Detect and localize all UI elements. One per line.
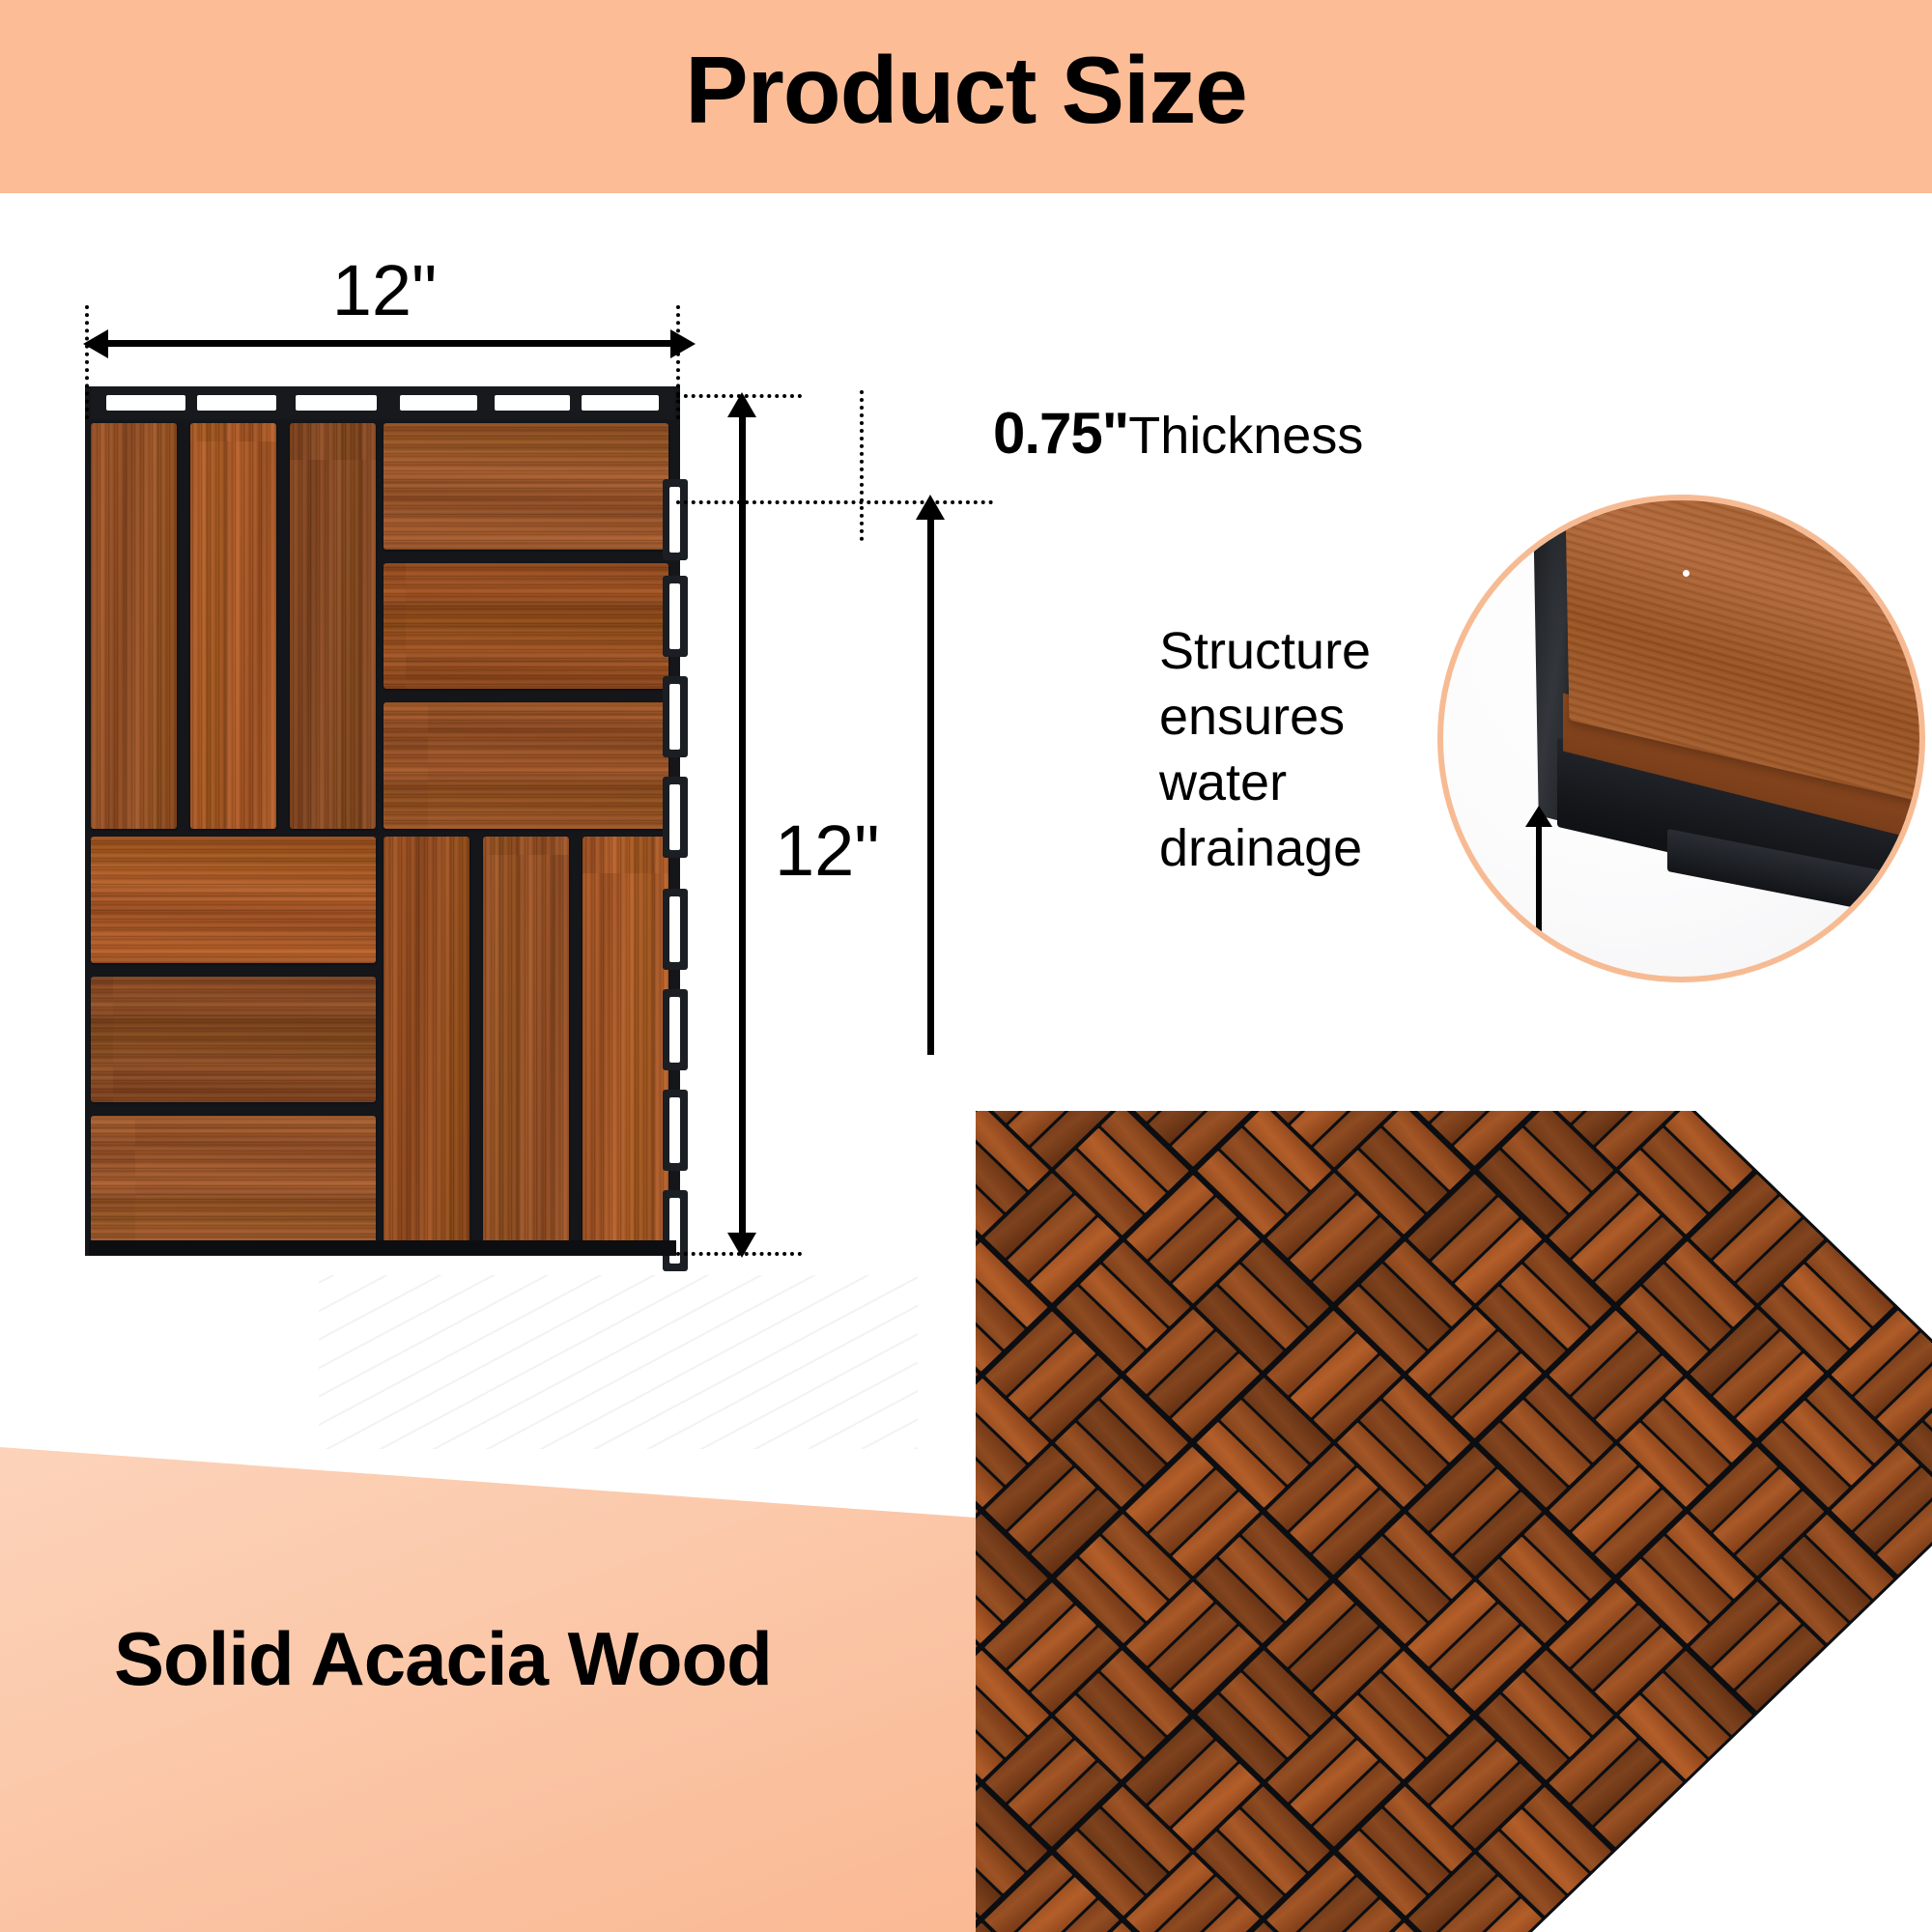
installed-tile-array-photo	[976, 1111, 1932, 1932]
tile-plastic-frame	[85, 386, 680, 1256]
wood-slat	[384, 702, 668, 829]
connector-tab-hole	[669, 684, 680, 750]
wood-slat	[290, 423, 376, 829]
drainage-note-line-1: Structure	[1159, 618, 1371, 684]
wood-slat	[91, 1116, 376, 1242]
wood-grain-texture	[91, 977, 376, 1103]
background-texture-streaks	[319, 1275, 918, 1449]
thickness-label-row: 0.75" Thickness	[993, 400, 1363, 467]
tile-connector-tab	[663, 1190, 688, 1271]
tile-top-rail	[91, 386, 674, 419]
wood-slat	[91, 977, 376, 1103]
connector-tab-hole	[669, 997, 680, 1063]
tile-connector-tab	[663, 889, 688, 970]
page-title: Product Size	[0, 0, 1932, 193]
thickness-word: Thickness	[1128, 406, 1363, 466]
height-dimension-line	[739, 410, 746, 1236]
drainage-note-line-3: water	[1159, 750, 1371, 815]
inset-thickness-arrowhead-down	[1525, 947, 1552, 968]
drainage-note: Structure ensures water drainage	[1159, 618, 1371, 881]
wood-grain-texture	[384, 423, 668, 550]
width-extension-line-left	[85, 305, 89, 419]
tile-quadrant-top-right	[384, 423, 668, 829]
tile-array-grid	[976, 1111, 1932, 1932]
drainage-note-line-4: drainage	[1159, 815, 1371, 881]
tile-quadrant-bottom-right	[384, 837, 668, 1242]
wood-grain-texture	[582, 837, 668, 1242]
connector-tab-hole	[669, 784, 680, 850]
wood-grain-texture	[190, 423, 276, 829]
drainage-slot	[582, 395, 659, 411]
height-arrowhead-down	[727, 1233, 756, 1258]
height-arrowhead-up	[727, 392, 756, 417]
product-tile-photo	[85, 386, 680, 1256]
drainage-slot	[495, 395, 570, 411]
connector-tab-hole	[669, 487, 680, 553]
wood-grain-texture	[91, 423, 177, 829]
drainage-slot	[296, 395, 377, 411]
drainage-note-line-2: ensures	[1159, 684, 1371, 750]
wood-grain-texture	[290, 423, 376, 829]
width-dimension-label: 12"	[332, 249, 438, 331]
tile-connector-tab	[663, 1090, 688, 1171]
wood-slat	[384, 837, 469, 1242]
wood-slat	[582, 837, 668, 1242]
width-dimension-line	[100, 340, 674, 347]
thickness-arrowhead-up	[916, 495, 945, 520]
wood-grain-texture	[384, 563, 668, 690]
thickness-value: 0.75"	[993, 400, 1128, 467]
drainage-slot	[197, 395, 276, 411]
connector-tab-hole	[669, 1097, 680, 1163]
wood-grain-texture	[483, 837, 569, 1242]
tile-connector-tab	[663, 576, 688, 657]
wood-slat	[91, 423, 177, 829]
thickness-extension-line-horizontal	[676, 500, 993, 504]
tile-connector-tab	[663, 777, 688, 858]
wood-slat	[483, 837, 569, 1242]
width-extension-line-right	[676, 305, 680, 419]
wood-slat	[384, 563, 668, 690]
tile-connector-tab	[663, 479, 688, 560]
drainage-slot	[106, 395, 185, 411]
drainage-slot	[400, 395, 477, 411]
connector-tab-hole	[669, 583, 680, 649]
inset-highlight-speck	[1683, 570, 1690, 577]
wood-slat	[91, 837, 376, 963]
thickness-extension-line-vertical	[860, 390, 864, 541]
inset-thickness-line	[1536, 821, 1542, 952]
wood-grain-texture	[91, 837, 376, 963]
material-title: Solid Acacia Wood	[114, 1615, 772, 1703]
thickness-detail-inset	[1437, 495, 1925, 982]
wood-slat	[384, 423, 668, 550]
tile-bottom-rail	[89, 1240, 676, 1256]
wood-grain-texture	[91, 1116, 376, 1242]
thickness-dimension-line	[927, 514, 934, 1055]
width-arrowhead-right	[670, 329, 696, 358]
tile-quadrant-top-left	[91, 423, 376, 829]
wood-grain-texture	[384, 702, 668, 829]
height-dimension-label: 12"	[775, 810, 880, 892]
tile-connector-tab	[663, 676, 688, 757]
tile-quadrant-bottom-left	[91, 837, 376, 1242]
wood-grain-texture	[384, 837, 469, 1242]
infographic-canvas: Solid Acacia Wood Product Size 12" 12" 0…	[0, 0, 1932, 1932]
tile-connector-tab	[663, 989, 688, 1070]
connector-tab-hole	[669, 896, 680, 962]
wood-slat	[190, 423, 276, 829]
width-arrowhead-left	[83, 329, 108, 358]
